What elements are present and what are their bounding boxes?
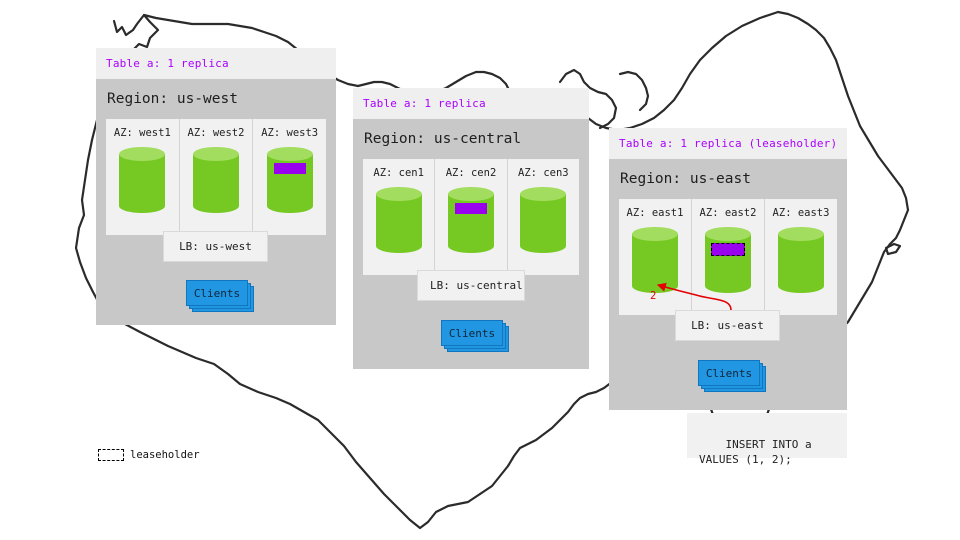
cylinder-top xyxy=(778,227,824,241)
panel-header-us-central: Table a: 1 replica xyxy=(353,88,589,119)
clients-label-us-west: Clients xyxy=(194,287,240,300)
cylinder-body xyxy=(193,154,239,206)
sql-statement-box: INSERT INTO a VALUES (1, 2); xyxy=(687,413,847,458)
az-label-west3: AZ: west3 xyxy=(257,127,322,139)
legend-leaseholder: leaseholder xyxy=(98,449,200,461)
clients-button-us-east[interactable]: Clients xyxy=(698,360,760,386)
region-title-us-east: Region: us-east xyxy=(619,159,837,199)
cylinder-top xyxy=(267,147,313,161)
cylinder-body xyxy=(267,154,313,206)
cylinder-top xyxy=(448,187,494,201)
node-cylinder-east3[interactable] xyxy=(778,227,824,293)
az-cell-west3[interactable]: AZ: west3 xyxy=(252,119,326,235)
cylinder-body xyxy=(778,234,824,286)
dashed-rect-icon xyxy=(98,449,124,461)
node-cylinder-east1[interactable] xyxy=(632,227,678,293)
node-cylinder-east2[interactable] xyxy=(705,227,751,293)
az-cell-cen3[interactable]: AZ: cen3 xyxy=(507,159,579,275)
lb-label-us-east: LB: us-east xyxy=(691,319,764,332)
replica-marker-west3 xyxy=(274,163,306,174)
load-balancer-us-west[interactable]: LB: us-west xyxy=(163,231,268,262)
cylinder-top xyxy=(632,227,678,241)
clients-stack-us-central[interactable]: Clients xyxy=(441,320,503,346)
az-label-cen2: AZ: cen2 xyxy=(439,167,502,179)
leaseholder-replica-marker-east2 xyxy=(711,243,745,256)
cylinder-body xyxy=(448,194,494,246)
cylinder-top xyxy=(705,227,751,241)
load-balancer-us-central[interactable]: LB: us-central xyxy=(417,270,525,301)
panel-header-us-east: Table a: 1 replica (leaseholder) xyxy=(609,128,847,159)
az-label-east2: AZ: east2 xyxy=(696,207,760,219)
az-cell-east3[interactable]: AZ: east3 xyxy=(764,199,837,315)
az-strip-us-central: AZ: cen1 AZ: cen2 xyxy=(363,159,579,275)
load-balancer-us-east[interactable]: LB: us-east xyxy=(675,310,780,341)
az-label-west1: AZ: west1 xyxy=(110,127,175,139)
az-cell-cen2[interactable]: AZ: cen2 xyxy=(434,159,506,275)
az-label-east3: AZ: east3 xyxy=(769,207,833,219)
node-cylinder-west2[interactable] xyxy=(193,147,239,213)
diagram-canvas: Table a: 1 replica Region: us-west AZ: w… xyxy=(0,0,960,540)
cylinder-body xyxy=(376,194,422,246)
clients-stack-us-east[interactable]: Clients xyxy=(698,360,760,386)
region-title-us-central: Region: us-central xyxy=(363,119,579,159)
region-title-us-west: Region: us-west xyxy=(106,79,326,119)
node-cylinder-west1[interactable] xyxy=(119,147,165,213)
az-cell-east2[interactable]: AZ: east2 xyxy=(691,199,764,315)
az-label-cen1: AZ: cen1 xyxy=(367,167,430,179)
az-label-cen3: AZ: cen3 xyxy=(512,167,575,179)
cylinder-top xyxy=(376,187,422,201)
panel-body-us-central: Region: us-central AZ: cen1 AZ: cen2 xyxy=(353,119,589,285)
step-number-label: 2 xyxy=(650,290,656,302)
node-cylinder-cen3[interactable] xyxy=(520,187,566,253)
az-label-west2: AZ: west2 xyxy=(184,127,249,139)
lb-label-us-west: LB: us-west xyxy=(179,240,252,253)
az-label-east1: AZ: east1 xyxy=(623,207,687,219)
cylinder-top xyxy=(119,147,165,161)
cylinder-body xyxy=(705,234,751,286)
replica-marker-cen2 xyxy=(455,203,487,214)
legend-label: leaseholder xyxy=(130,449,200,461)
cylinder-body xyxy=(520,194,566,246)
lb-label-us-central: LB: us-central xyxy=(430,279,523,292)
node-cylinder-cen1[interactable] xyxy=(376,187,422,253)
clients-label-us-east: Clients xyxy=(706,367,752,380)
panel-header-us-west: Table a: 1 replica xyxy=(96,48,336,79)
cylinder-body xyxy=(632,234,678,286)
cylinder-top xyxy=(193,147,239,161)
panel-body-us-east: Region: us-east AZ: east1 AZ: east2 xyxy=(609,159,847,325)
clients-button-us-west[interactable]: Clients xyxy=(186,280,248,306)
az-cell-cen1[interactable]: AZ: cen1 xyxy=(363,159,434,275)
cylinder-top xyxy=(520,187,566,201)
panel-body-us-west: Region: us-west AZ: west1 AZ: west2 xyxy=(96,79,336,245)
az-cell-west2[interactable]: AZ: west2 xyxy=(179,119,253,235)
cylinder-body xyxy=(119,154,165,206)
node-cylinder-cen2[interactable] xyxy=(448,187,494,253)
clients-label-us-central: Clients xyxy=(449,327,495,340)
az-strip-us-west: AZ: west1 AZ: west2 AZ xyxy=(106,119,326,235)
az-cell-west1[interactable]: AZ: west1 xyxy=(106,119,179,235)
node-cylinder-west3[interactable] xyxy=(267,147,313,213)
clients-stack-us-west[interactable]: Clients xyxy=(186,280,248,306)
clients-button-us-central[interactable]: Clients xyxy=(441,320,503,346)
